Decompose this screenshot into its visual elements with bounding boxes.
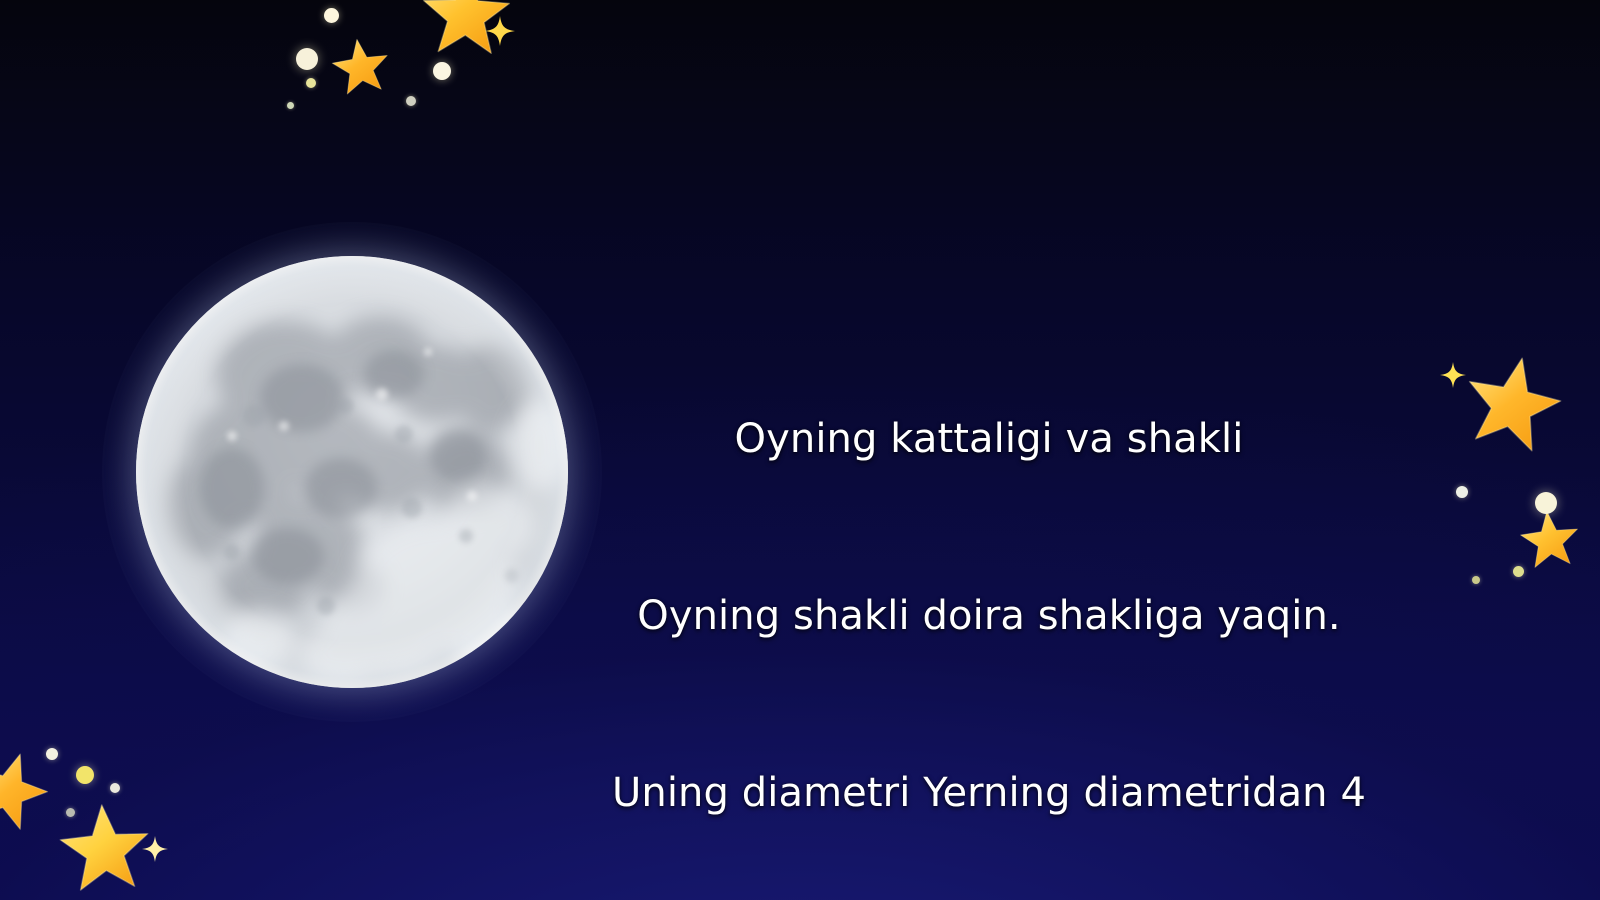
star-right-small-icon xyxy=(1518,508,1582,572)
sparkle-bottom-left-icon xyxy=(142,836,168,862)
dot-6-icon xyxy=(406,96,416,106)
caption-text: Oyning kattaligi va shakli Oyning shakli… xyxy=(580,292,1398,900)
dot-2-icon xyxy=(296,48,318,70)
dot-10-icon xyxy=(1472,576,1480,584)
star-bottom-left-icon xyxy=(56,800,154,898)
moon-image xyxy=(136,256,568,688)
dot-9-icon xyxy=(1513,566,1524,577)
dot-14-icon xyxy=(66,808,75,817)
moon-disc xyxy=(136,256,568,688)
sparkle-top-icon xyxy=(485,16,515,46)
dot-8-icon xyxy=(1535,492,1557,514)
dot-1-icon xyxy=(324,8,339,23)
star-left-edge-cut-icon xyxy=(0,748,50,832)
dot-12-icon xyxy=(76,766,94,784)
slide-canvas: Oyning kattaligi va shakli Oyning shakli… xyxy=(0,0,1600,900)
caption-line-3: Uning diametri Yerning diametridan 4 xyxy=(580,764,1398,823)
caption-line-1: Oyning kattaligi va shakli xyxy=(580,410,1398,469)
star-top-cut-icon xyxy=(418,0,514,62)
dot-7-icon xyxy=(1456,486,1468,498)
dot-3-icon xyxy=(433,62,451,80)
caption-line-2: Oyning shakli doira shakliga yaqin. xyxy=(580,587,1398,646)
dot-11-icon xyxy=(46,748,58,760)
star-top-small-icon xyxy=(330,36,392,98)
star-right-large-icon xyxy=(1460,352,1564,456)
dot-5-icon xyxy=(306,78,316,88)
dot-4-icon xyxy=(287,102,294,109)
dot-13-icon xyxy=(110,783,120,793)
sparkle-right-icon xyxy=(1440,362,1466,388)
